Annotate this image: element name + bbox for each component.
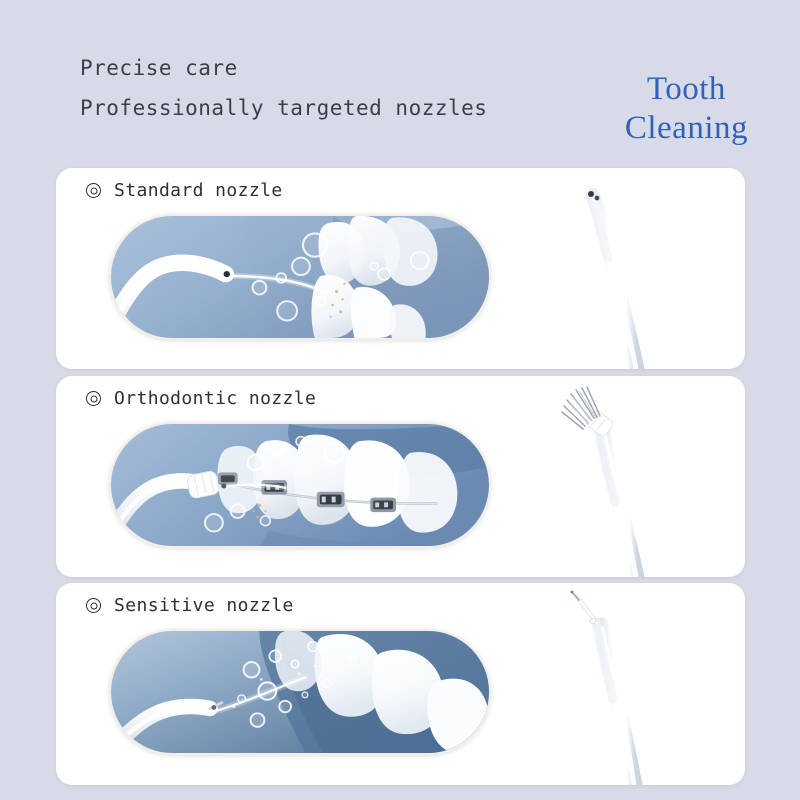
card-label-text: Orthodontic nozzle: [114, 388, 316, 409]
sensitive-fine-tip-nozzle-icon: [541, 583, 711, 785]
orthodontic-brush-nozzle-icon: [541, 376, 711, 577]
card-label-text: Sensitive nozzle: [114, 595, 294, 616]
page-header: Precise care Professionally targeted noz…: [0, 0, 800, 158]
headline-primary: Precise care: [80, 58, 487, 79]
page-title: Tooth Cleaning: [625, 70, 748, 148]
double-circle-icon: [86, 183, 101, 198]
illustration-sensitive-nozzle: [109, 629, 491, 755]
double-circle-icon: [86, 598, 101, 613]
illustration-orthodontic-nozzle: [109, 422, 491, 548]
nozzle-card-standard[interactable]: Standard nozzle: [56, 168, 745, 369]
card-label-sensitive: Sensitive nozzle: [86, 595, 294, 616]
double-circle-icon: [86, 391, 101, 406]
illustration-standard-nozzle: [109, 214, 491, 340]
card-label-orthodontic: Orthodontic nozzle: [86, 388, 316, 409]
card-label-standard: Standard nozzle: [86, 180, 283, 201]
page-title-line-1: Tooth: [625, 70, 748, 109]
nozzle-card-orthodontic[interactable]: Orthodontic nozzle: [56, 376, 745, 577]
headline-secondary: Professionally targeted nozzles: [80, 98, 487, 119]
card-label-text: Standard nozzle: [114, 180, 283, 201]
standard-nozzle-icon: [541, 168, 711, 369]
headline-block: Precise care Professionally targeted noz…: [80, 58, 487, 119]
page-title-line-2: Cleaning: [625, 109, 748, 148]
nozzle-card-sensitive[interactable]: Sensitive nozzle: [56, 583, 745, 785]
